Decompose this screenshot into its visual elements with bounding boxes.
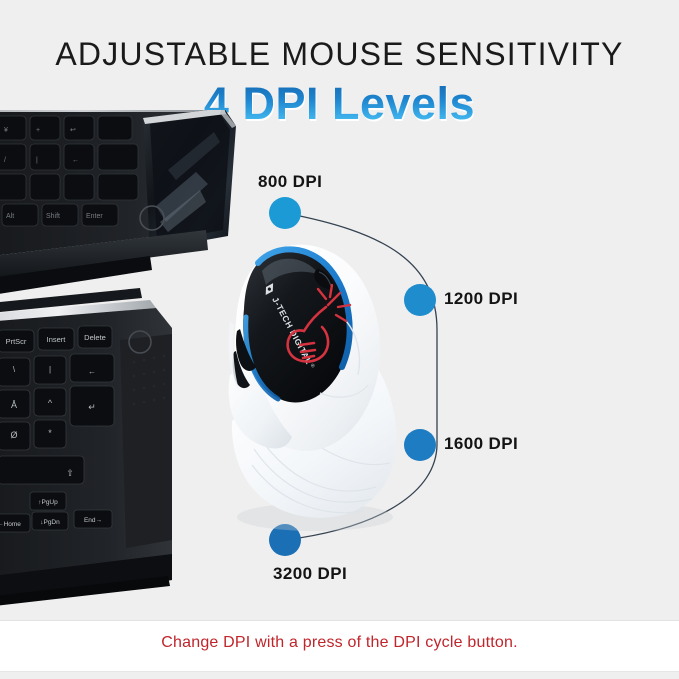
vertical-mouse-illustration: J-TECH DIGITAL ® xyxy=(200,225,430,535)
dpi-label-800: 800 DPI xyxy=(258,172,322,192)
dpi-label-1600: 1600 DPI xyxy=(444,434,518,454)
footer-caption: Change DPI with a press of the DPI cycle… xyxy=(0,634,679,652)
dpi-label-3200: 3200 DPI xyxy=(273,564,347,584)
product-feature-graphic: ADJUSTABLE MOUSE SENSITIVITY 4 DPI Level… xyxy=(0,0,679,679)
dpi-label-1200: 1200 DPI xyxy=(444,289,518,309)
